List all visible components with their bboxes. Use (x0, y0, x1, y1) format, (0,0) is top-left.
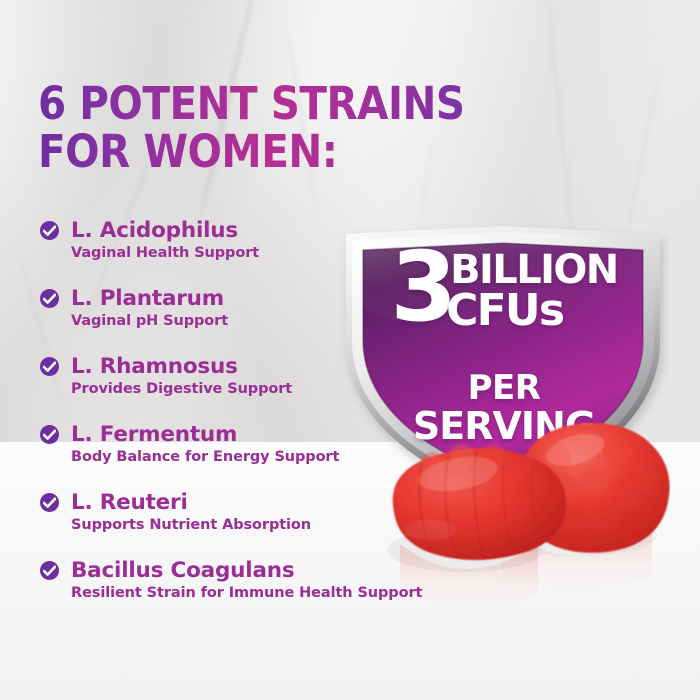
page-title: 6 Potent Strains For Women: (38, 80, 538, 176)
headline-line-1: 6 Potent Strains (38, 77, 465, 130)
check-circle-icon (40, 357, 59, 376)
headline-line-2: For Women: (38, 128, 538, 176)
raspberry-gummy-icon (370, 418, 690, 648)
check-circle-icon (40, 493, 59, 512)
check-circle-icon (40, 289, 59, 308)
check-circle-icon (40, 425, 59, 444)
check-circle-icon (40, 221, 59, 240)
check-circle-icon (40, 561, 59, 580)
raspberry-gummy-group (370, 418, 690, 648)
product-infographic: 6 Potent Strains For Women: L. Acidophil… (0, 0, 700, 700)
